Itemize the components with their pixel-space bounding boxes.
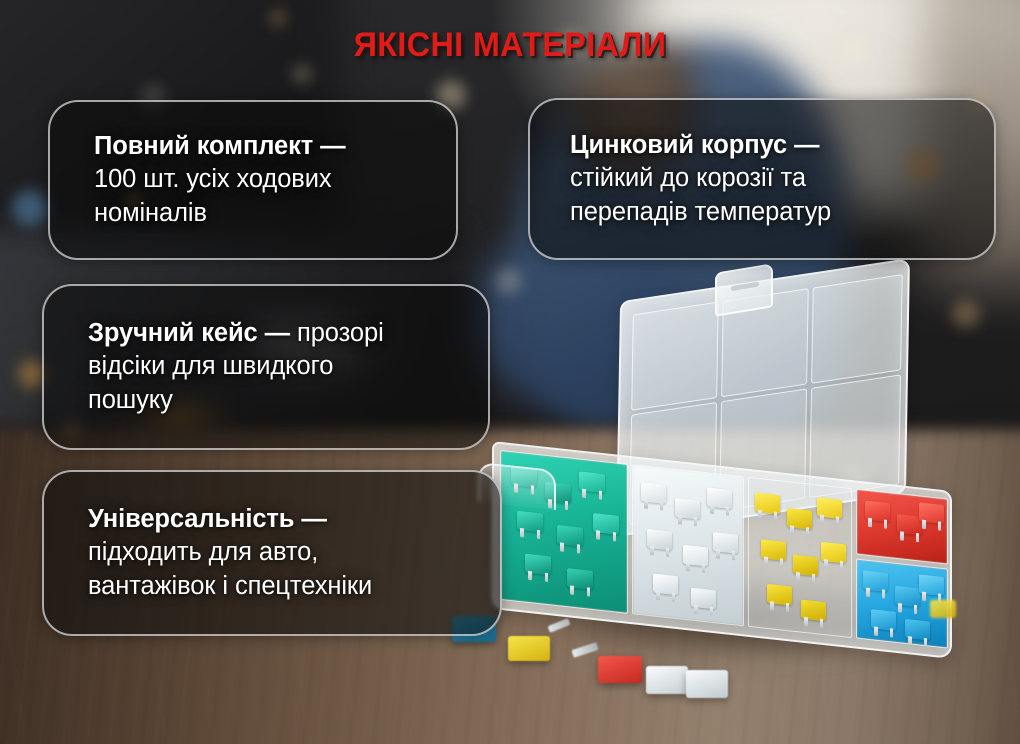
fuse-blue bbox=[863, 570, 888, 592]
fuse-green bbox=[517, 511, 543, 533]
fuse-blue bbox=[919, 574, 944, 596]
fuse-clear bbox=[653, 574, 678, 596]
feature-body-line: перепадів температур bbox=[570, 198, 831, 226]
fuse-green bbox=[567, 568, 593, 590]
fuse-yellow bbox=[755, 493, 780, 515]
feature-body-line: вантажівок і спецтехніки bbox=[88, 572, 372, 600]
fuse-green bbox=[579, 471, 605, 493]
bokeh-light bbox=[270, 10, 286, 26]
fuse-blue bbox=[905, 619, 930, 641]
banner-title: ЯКІСНІ МАТЕРІАЛИ bbox=[26, 26, 995, 65]
feature-card-text: Зручний кейс — прозорі відсіки для швидк… bbox=[44, 317, 488, 416]
loose-fuse-yellow-right bbox=[930, 600, 956, 618]
lid-cell bbox=[811, 274, 903, 384]
fuse-blue bbox=[895, 586, 920, 608]
lid-cell bbox=[631, 302, 719, 411]
feature-body-line: відсіки для швидкого bbox=[88, 352, 333, 380]
fuse-yellow bbox=[787, 508, 812, 530]
fuse-clear bbox=[683, 545, 708, 567]
fuse-clear bbox=[707, 487, 732, 509]
feature-body-line: підходить для авто, bbox=[88, 538, 318, 566]
product-image bbox=[430, 270, 1020, 744]
feature-card-text: Повний комплект — 100 шт. усіх ходових н… bbox=[50, 130, 456, 229]
loose-fuse-red bbox=[598, 656, 642, 683]
fuse-clear bbox=[675, 498, 700, 520]
feature-lead-text: Універсальність — bbox=[88, 505, 327, 533]
fuse-yellow bbox=[817, 497, 842, 519]
fuse-yellow bbox=[767, 584, 792, 606]
fuse-yellow bbox=[821, 542, 846, 564]
fuse-green bbox=[557, 525, 583, 547]
fuse-clear bbox=[647, 529, 672, 551]
compartment-clear bbox=[632, 464, 744, 626]
feature-card-convenient-case[interactable]: Зручний кейс — прозорі відсіки для швидк… bbox=[42, 284, 490, 450]
fuse-clear bbox=[641, 482, 666, 504]
feature-card-full-set[interactable]: Повний комплект — 100 шт. усіх ходових н… bbox=[48, 100, 458, 260]
fuse-clear bbox=[691, 588, 716, 610]
fuse-yellow bbox=[801, 600, 826, 622]
loose-fuse-clear-1 bbox=[646, 666, 688, 694]
bokeh-light bbox=[292, 64, 312, 84]
loose-fuse-yellow bbox=[508, 636, 550, 661]
fuse-red bbox=[919, 502, 944, 524]
fuse-green bbox=[593, 513, 619, 535]
feature-body-line: пошуку bbox=[88, 386, 173, 414]
feature-lead-text: Повний комплект — bbox=[94, 132, 346, 160]
feature-card-text: Універсальність — підходить для авто, ва… bbox=[44, 503, 500, 602]
feature-lead-text: Цинковий корпус — bbox=[570, 131, 819, 159]
feature-card-universality[interactable]: Універсальність — підходить для авто, ва… bbox=[42, 470, 502, 636]
compartment-yellow bbox=[748, 477, 852, 638]
fuse-blue bbox=[871, 609, 896, 631]
lid-latch-slot bbox=[731, 281, 759, 291]
feature-body-line: стійкий до корозії та bbox=[570, 164, 806, 192]
promo-banner: ЯКІСНІ МАТЕРІАЛИ bbox=[0, 0, 1020, 744]
feature-card-text: Цинковий корпус — стійкий до корозії та … bbox=[530, 129, 994, 228]
loose-fuse-clear-2 bbox=[686, 670, 728, 698]
fuse-red bbox=[865, 501, 890, 523]
bokeh-light bbox=[12, 190, 48, 226]
feature-lead-text: Зручний кейс — bbox=[88, 319, 290, 347]
fuse-yellow bbox=[793, 555, 818, 577]
feature-body-line: прозорі bbox=[290, 319, 384, 347]
feature-body-line: номіналів bbox=[94, 199, 207, 227]
feature-card-zinc-body[interactable]: Цинковий корпус — стійкий до корозії та … bbox=[528, 98, 996, 260]
fuse-green bbox=[525, 554, 551, 576]
feature-body-line: 100 шт. усіх ходових bbox=[94, 165, 332, 193]
fuse-clear bbox=[713, 532, 738, 554]
fuse-yellow bbox=[761, 539, 786, 561]
compartment-red bbox=[856, 489, 948, 565]
